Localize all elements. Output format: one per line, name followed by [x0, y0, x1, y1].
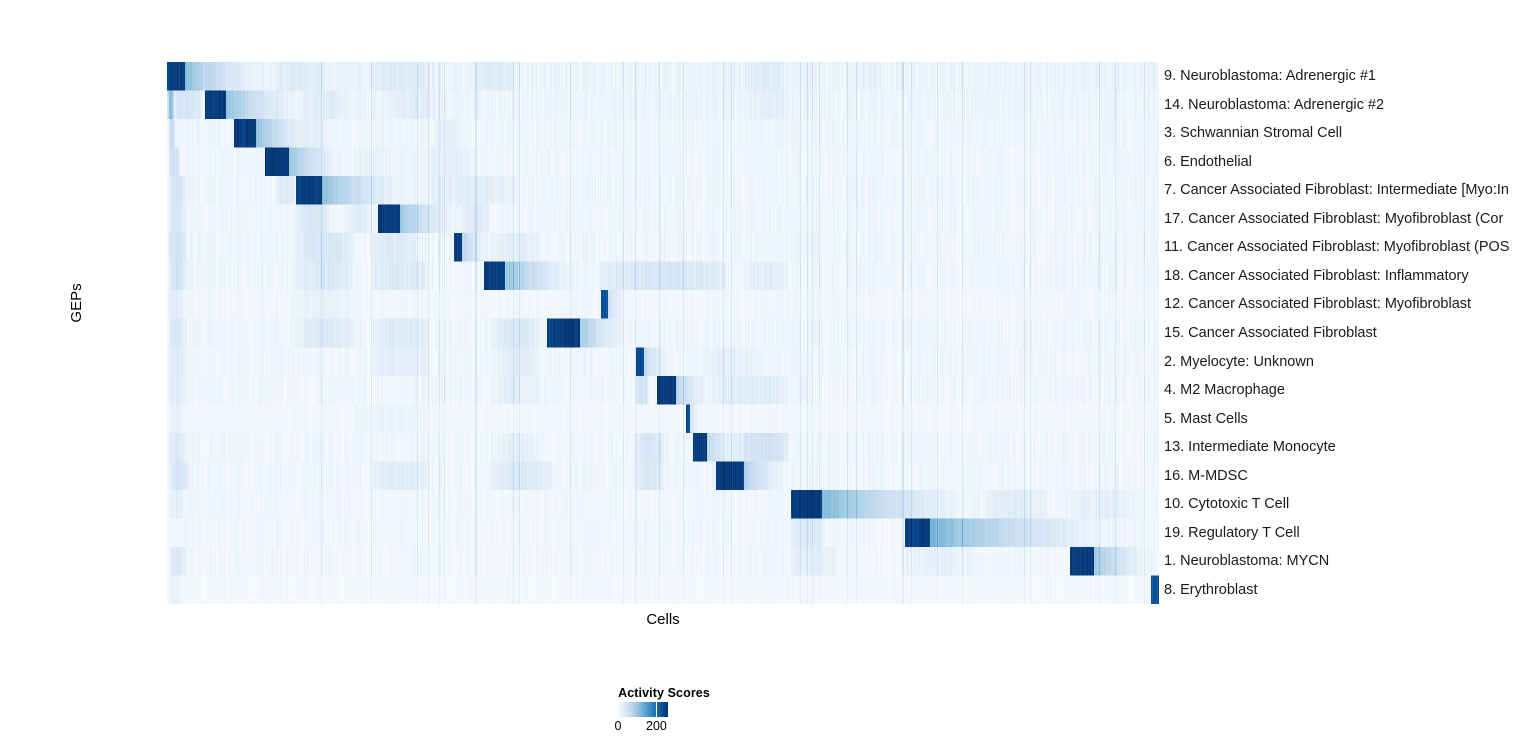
colorbar-bar-container	[618, 702, 668, 717]
row-label: 9. Neuroblastoma: Adrenergic #1	[1164, 69, 1376, 84]
row-label: 16. M-MDSC	[1164, 469, 1248, 484]
colorbar-tick	[656, 702, 658, 717]
row-label: 10. Cytotoxic T Cell	[1164, 497, 1289, 512]
colorbar-title: Activity Scores	[560, 686, 768, 700]
y-axis-title-container: GEPs	[68, 233, 88, 373]
x-axis-title: Cells	[167, 611, 1159, 628]
row-label: 18. Cancer Associated Fibroblast: Inflam…	[1164, 269, 1469, 284]
colorbar-gradient	[618, 702, 668, 717]
row-label: 4. M2 Macrophage	[1164, 383, 1285, 398]
heatmap-figure: GEPs Cells 9. Neuroblastoma: Adrenergic …	[0, 0, 1540, 743]
row-label: 12. Cancer Associated Fibroblast: Myofib…	[1164, 297, 1471, 312]
row-label: 5. Mast Cells	[1164, 412, 1248, 427]
row-label: 8. Erythroblast	[1164, 583, 1258, 598]
row-label: 1. Neuroblastoma: MYCN	[1164, 554, 1329, 569]
colorbar-tick-label: 200	[646, 719, 667, 733]
row-label: 6. Endothelial	[1164, 155, 1252, 170]
row-label: 3. Schwannian Stromal Cell	[1164, 126, 1342, 141]
row-label: 19. Regulatory T Cell	[1164, 526, 1300, 541]
colorbar-legend: Activity Scores 0200	[560, 686, 820, 743]
colorbar-tick-label: 0	[615, 719, 622, 733]
row-label: 15. Cancer Associated Fibroblast	[1164, 326, 1377, 341]
row-label: 11. Cancer Associated Fibroblast: Myofib…	[1164, 240, 1509, 255]
row-label: 13. Intermediate Monocyte	[1164, 440, 1336, 455]
row-label: 7. Cancer Associated Fibroblast: Interme…	[1164, 183, 1509, 198]
row-label: 2. Myelocyte: Unknown	[1164, 355, 1314, 370]
row-label: 14. Neuroblastoma: Adrenergic #2	[1164, 98, 1384, 113]
heatmap-row-labels: 9. Neuroblastoma: Adrenergic #114. Neuro…	[1164, 62, 1540, 604]
y-axis-title: GEPs	[68, 233, 85, 373]
heatmap-plot-area	[167, 62, 1159, 604]
row-label: 17. Cancer Associated Fibroblast: Myofib…	[1164, 212, 1503, 227]
heatmap-canvas	[167, 62, 1159, 604]
